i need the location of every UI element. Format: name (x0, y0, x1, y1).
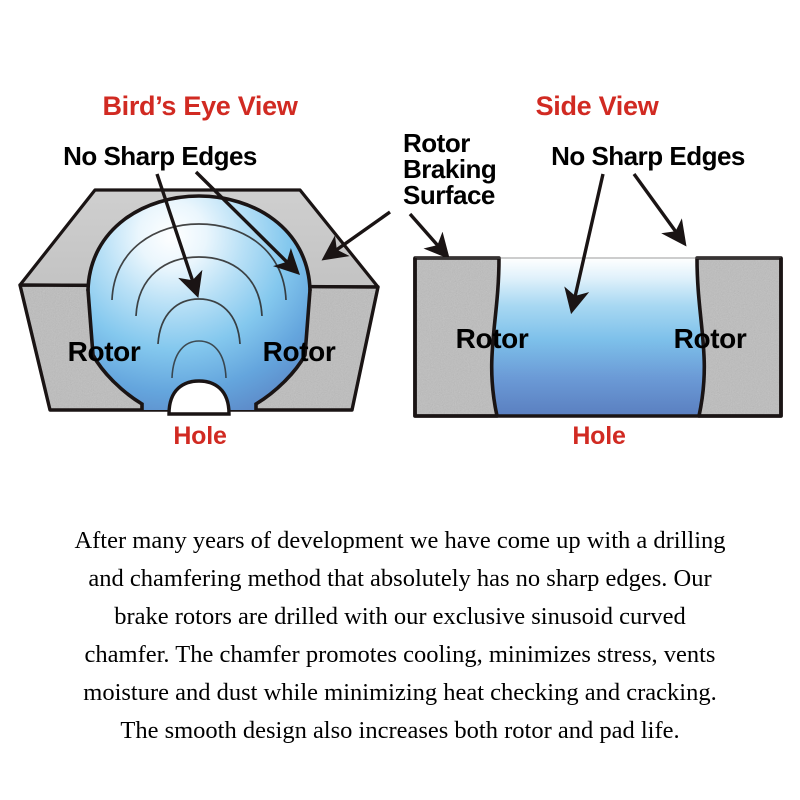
label-rotor-left-near: Rotor (68, 336, 141, 367)
description-line-5: moisture and dust while minimizing heat … (10, 674, 790, 712)
arrow-no-sharp-edges-right-outer (634, 174, 684, 243)
birds-eye-view-diagram: Rotor Rotor Hole (20, 190, 378, 450)
description-line-6: The smooth design also increases both ro… (10, 712, 790, 750)
label-rotor-right-near: Rotor (456, 323, 529, 354)
label-rotor-left-far: Rotor (263, 336, 336, 367)
birds-eye-view-heading: Bird’s Eye View (102, 91, 298, 121)
label-hole-right: Hole (572, 422, 626, 450)
description-paragraph: After many years of development we have … (0, 522, 800, 750)
callout-rotor-braking-surface: Rotor Braking Surface (403, 128, 496, 210)
side-view-heading: Side View (536, 91, 660, 121)
description-line-4: chamfer. The chamfer promotes cooling, m… (10, 636, 790, 674)
description-line-2: and chamfering method that absolutely ha… (10, 560, 790, 598)
description-line-1: After many years of development we have … (10, 522, 790, 560)
arrow-braking-surface-right (410, 214, 447, 256)
description-line-3: brake rotors are drilled with our exclus… (10, 598, 790, 636)
label-rotor-right-far: Rotor (674, 323, 747, 354)
callout-no-sharp-edges-left: No Sharp Edges (63, 141, 257, 171)
label-hole-left: Hole (173, 422, 227, 450)
callout-no-sharp-edges-right: No Sharp Edges (551, 141, 745, 171)
diagram-figure: Bird’s Eye View Side View No Sharp Edges… (0, 0, 800, 470)
callout-braking-surface-line-3: Surface (403, 180, 495, 210)
side-view-diagram: Rotor Rotor Hole (415, 258, 781, 450)
